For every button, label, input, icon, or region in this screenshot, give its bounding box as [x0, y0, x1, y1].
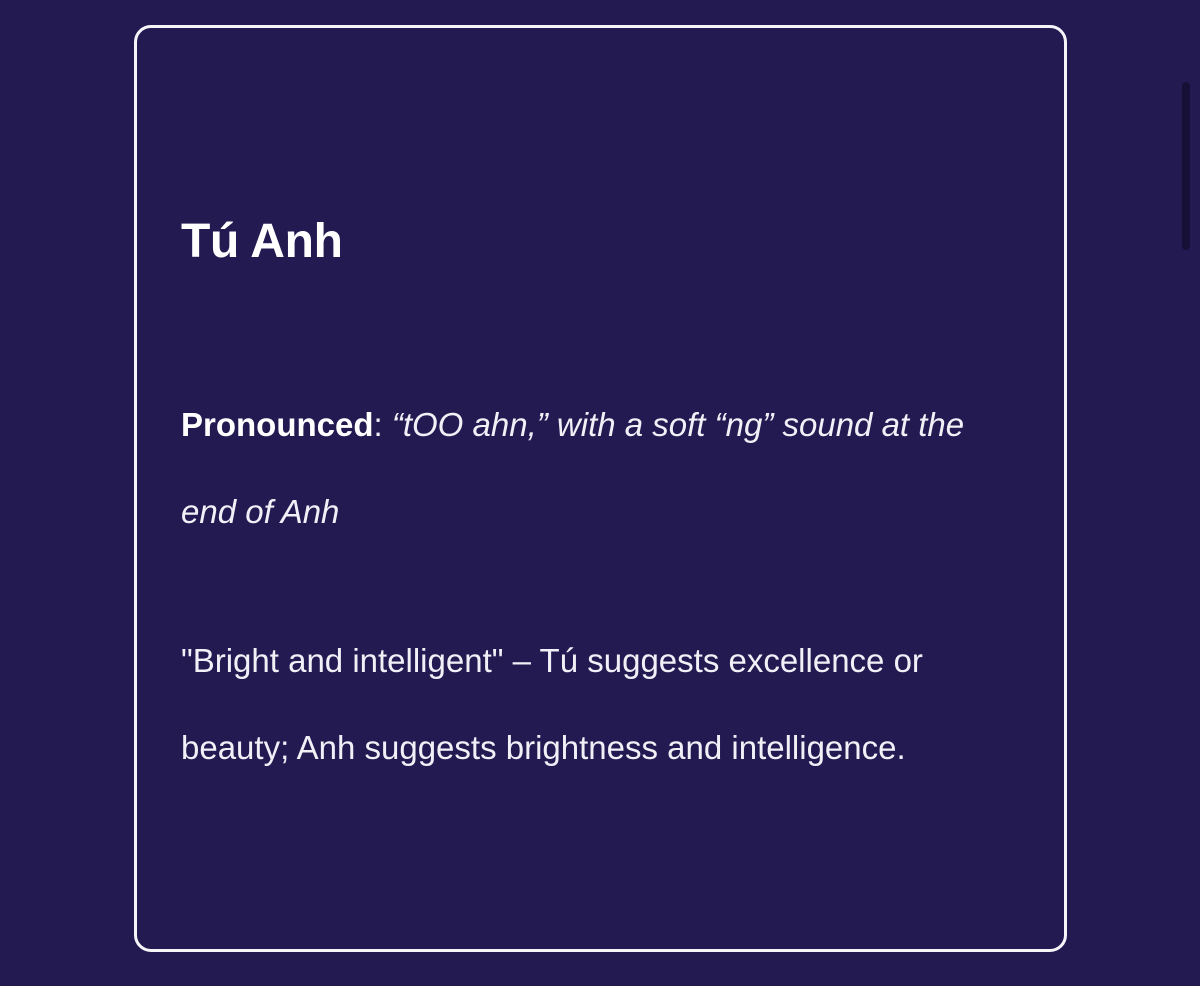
pronunciation-separator: :: [374, 406, 392, 443]
name-meaning-text: "Bright and intelligent" – Tú suggests e…: [181, 617, 971, 792]
card-content: Tú Anh Pronounced: “tOO ahn,” with a sof…: [181, 28, 1020, 949]
pronunciation-label: Pronounced: [181, 406, 374, 443]
page-title: Tú Anh: [181, 214, 343, 269]
pronunciation-block: Pronounced: “tOO ahn,” with a soft “ng” …: [181, 381, 1011, 556]
vertical-scrollbar[interactable]: [1180, 0, 1192, 986]
vertical-scroll-thumb[interactable]: [1182, 82, 1190, 250]
name-meaning-card: Tú Anh Pronounced: “tOO ahn,” with a sof…: [134, 25, 1067, 952]
